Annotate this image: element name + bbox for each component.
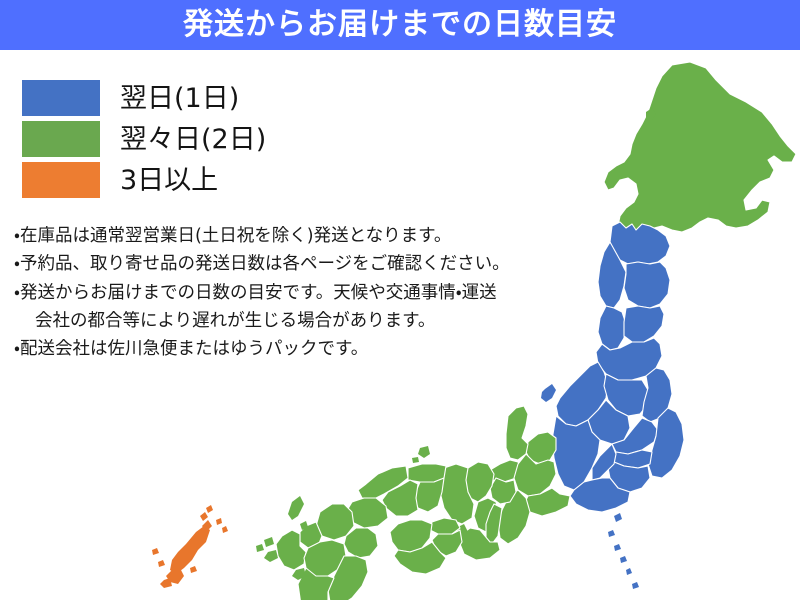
- note-line: ・配送会社は佐川急便またはゆうパックです。: [14, 335, 574, 363]
- note-line: ・予約品、取り寄せ品の発送日数は各ページをご確認ください。: [14, 250, 574, 278]
- notes-list: ・在庫品は通常翌営業日(土日祝を除く)発送となります。 ・予約品、取り寄せ品の発…: [14, 222, 574, 364]
- note-line: ・発送からお届けまでの日数の目安です。天候や交通事情・運送: [14, 279, 574, 307]
- legend-label-next-day: 翌日(1日): [120, 85, 239, 112]
- map-region-hokuriku-tokai-kansai: [440, 406, 570, 560]
- legend: 翌日(1日) 翌々日(2日) 3日以上: [22, 80, 322, 203]
- map-region-izu-islands: [608, 513, 639, 589]
- legend-item-next-day: 翌日(1日): [22, 80, 322, 116]
- map-region-kyushu: [256, 496, 378, 600]
- page-header: 発送からお届けまでの日数目安: [0, 0, 800, 50]
- map-region-tohoku: [596, 222, 670, 380]
- note-line: ・在庫品は通常翌営業日(土日祝を除く)発送となります。: [14, 222, 574, 250]
- legend-label-three-plus-day: 3日以上: [120, 167, 218, 194]
- legend-item-two-day: 翌々日(2日): [22, 121, 322, 157]
- delivery-days-infographic: 発送からお届けまでの日数目安: [0, 0, 800, 600]
- color-swatch-icon-next-day: [22, 80, 100, 116]
- map-region-chugoku: [346, 446, 446, 528]
- color-swatch-icon-two-day: [22, 121, 100, 157]
- note-line-continuation: 会社の都合等により遅れが生じる場合があります。: [14, 307, 574, 335]
- page-title: 発送からお届けまでの日数目安: [183, 10, 617, 40]
- legend-label-two-day: 翌々日(2日): [120, 126, 266, 153]
- map-region-shikoku: [390, 518, 462, 574]
- legend-item-three-plus-day: 3日以上: [22, 162, 322, 198]
- map-region-hokkaido: [604, 62, 796, 255]
- map-region-okinawa: [152, 505, 228, 588]
- map-region-kanto-koshinetsu: [541, 362, 684, 512]
- color-swatch-icon-three-plus-day: [22, 162, 100, 198]
